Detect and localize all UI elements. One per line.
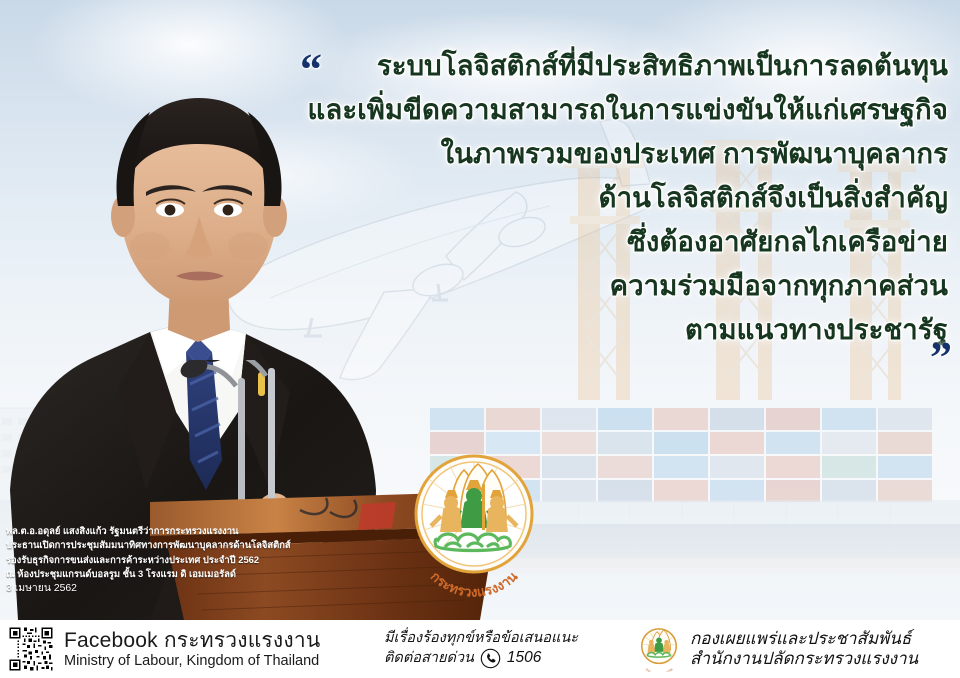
caption-line-1: พล.ต.อ.อดุลย์ แสงสิงแก้ว รัฐมนตรีว่าการก… [6, 524, 351, 538]
caption-line-5: 3 เมษายน 2562 [6, 582, 351, 596]
quote-text-block: ระบบโลจิสติกส์ที่มีประสิทธิภาพเป็นการลดต… [300, 44, 948, 352]
poster-canvas: กระทรวงแรงงาน “ ” ระบบโลจิสติกส์ที่มีประ… [0, 0, 960, 678]
ministry-seal-mini-icon: กระทรวงแรงงาน [636, 626, 682, 672]
phone-icon [480, 648, 501, 669]
quote-line-1: ระบบโลจิสติกส์ที่มีประสิทธิภาพเป็นการลดต… [300, 44, 948, 88]
quote-line-3: ในภาพรวมของประเทศ การพัฒนาบุคลากร [300, 132, 948, 176]
publisher-division: กองเผยแพร่และประชาสัมพันธ์ [690, 629, 918, 649]
close-quote-mark: ” [930, 336, 952, 380]
hotline-label: ติดต่อสายด่วน [384, 649, 474, 667]
mini-seal-caption: กระทรวงแรงงาน [645, 667, 674, 672]
facebook-page-subtitle: Ministry of Labour, Kingdom of Thailand [64, 653, 320, 669]
hotline-prompt: มีเรื่องร้องทุกข์หรือข้อเสนอแนะ [384, 629, 630, 647]
quote-line-6: ความร่วมมือจากทุกภาคส่วน [300, 264, 948, 308]
caption-line-3: รองรับธุรกิจการขนส่งและการค้าระหว่างประเ… [6, 553, 351, 567]
quote-line-5: ซึ่งต้องอาศัยกลไกเครือข่าย [300, 220, 948, 264]
quote-line-7: ตามแนวทางประชารัฐ [300, 308, 948, 352]
footer-hotline-block: มีเรื่องร้องทุกข์หรือข้อเสนอแนะ ติดต่อสา… [380, 629, 630, 668]
footer-bar: Facebook กระทรวงแรงงาน Ministry of Labou… [0, 620, 960, 678]
hotline-number[interactable]: 1506 [507, 648, 541, 667]
event-caption: พล.ต.อ.อดุลย์ แสงสิงแก้ว รัฐมนตรีว่าการก… [6, 524, 351, 596]
hotline-row: ติดต่อสายด่วน 1506 [384, 648, 630, 669]
open-quote-mark: “ [300, 48, 322, 92]
quote-line-2: และเพิ่มขีดความสามารถในการแข่งขันให้แก่เ… [300, 88, 948, 132]
caption-line-2: ประธานเปิดการประชุมสัมมนาทิศทางการพัฒนาบ… [6, 538, 351, 552]
caption-line-4: ณ ห้องประชุมแกรนด์บอลรูม ชั้น 3 โรงแรม ด… [6, 567, 351, 581]
facebook-page-name[interactable]: Facebook กระทรวงแรงงาน [64, 629, 320, 653]
publisher-office: สำนักงานปลัดกระทรวงแรงงาน [690, 649, 918, 669]
quote-line-4: ด้านโลจิสติกส์จึงเป็นสิ่งสำคัญ [300, 176, 948, 220]
svg-text:กระทรวงแรงงาน: กระทรวงแรงงาน [645, 667, 674, 672]
qr-code-icon[interactable] [8, 626, 54, 672]
footer-publisher-block: กระทรวงแรงงาน กองเผยแพร่และประชาสัมพันธ์… [630, 626, 918, 672]
footer-facebook-block[interactable]: Facebook กระทรวงแรงงาน Ministry of Labou… [0, 626, 380, 672]
